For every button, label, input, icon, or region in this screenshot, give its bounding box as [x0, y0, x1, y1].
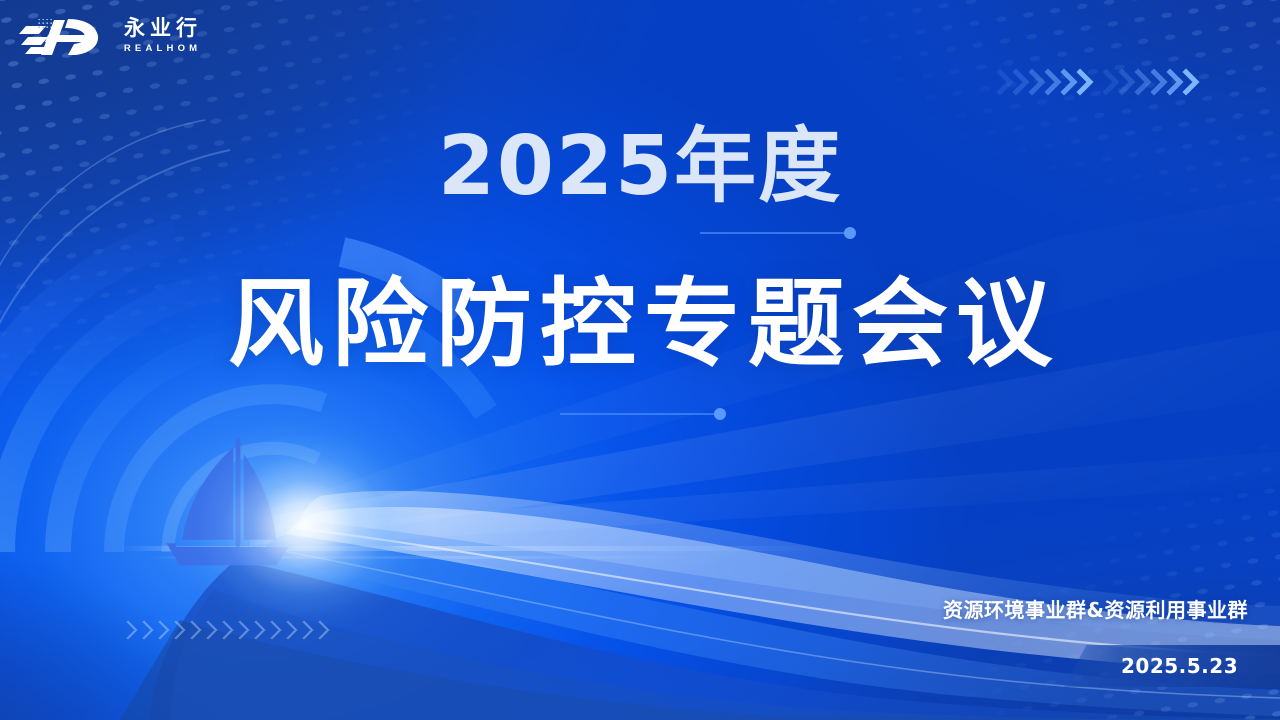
department-label: 资源环境事业群&资源利用事业群: [943, 594, 1248, 623]
boat-glow: [160, 400, 450, 650]
company-logo[interactable]: 永业行 REALHOM: [18, 14, 202, 58]
slide-title-main: 风险防控专题会议: [0, 272, 1280, 378]
date-banner: 2025.5.23: [1064, 645, 1280, 687]
chevron-group-top-right-2: [1106, 72, 1196, 92]
yh-monogram-icon: [18, 14, 110, 58]
presentation-slide: 永业行 REALHOM 2025年度 风险防控专题会议 资源环境事业群&资源利用…: [0, 0, 1280, 720]
slide-title-year: 2025年度: [0, 126, 1280, 208]
logo-english-name: REALHOM: [120, 44, 202, 54]
chevron-group-top-right-1: [1000, 72, 1090, 92]
logo-chinese-name: 永业行: [119, 18, 202, 39]
logo-wordmark: 永业行 REALHOM: [119, 18, 202, 54]
accent-line-dot-upper: [700, 227, 856, 239]
date-label: 2025.5.23: [1064, 654, 1238, 678]
